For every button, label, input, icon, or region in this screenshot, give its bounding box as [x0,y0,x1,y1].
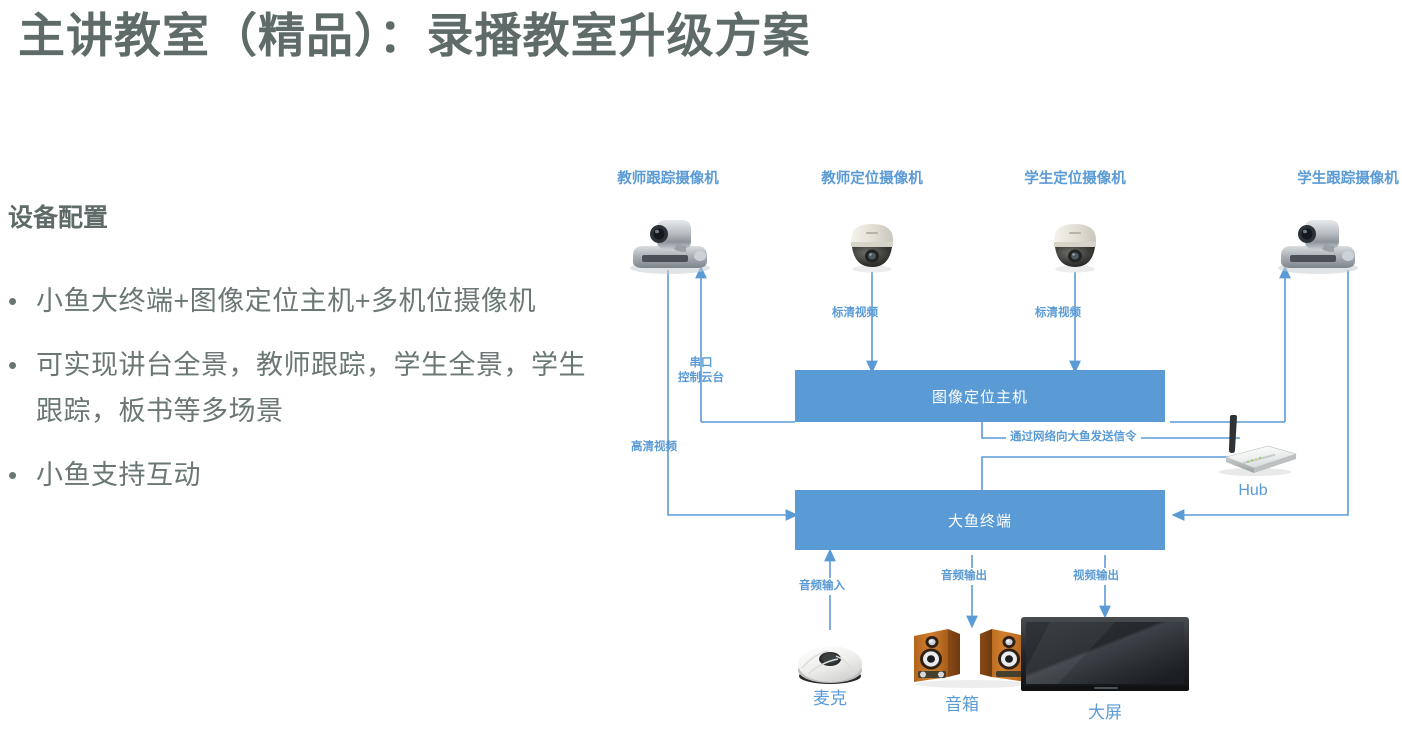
edge-label-network-signal: 通过网络向大鱼发送信令 [1006,430,1141,445]
edge-label-serial-control: 串口 控制云台 [666,356,736,386]
edge-label-serial-control-line2: 控制云台 [678,372,724,384]
display-label: 大屏 [1045,698,1165,723]
hub-icon [1208,410,1298,485]
image-locating-host-box[interactable]: 图像定位主机 [795,370,1165,422]
bullet-list: • 小鱼大终端+图像定位主机+多机位摄像机 • 可实现讲台全景，教师跟踪，学生全… [8,278,586,516]
hub-label: Hub [1208,482,1298,500]
camera-label-student-tracking: 学生跟踪摄像机 [1293,170,1402,189]
list-item-label: 可实现讲台全景，教师跟踪，学生全景，学生跟踪，板书等多场景 [36,342,586,434]
section-heading: 设备配置 [8,198,108,234]
list-item-label: 小鱼大终端+图像定位主机+多机位摄像机 [36,278,536,324]
speakers-icon [908,622,1036,693]
dayu-terminal-label: 大鱼终端 [948,510,1012,531]
bullet-marker-icon: • [8,342,36,388]
student-locating-camera-icon [1046,218,1104,279]
bullet-marker-icon: • [8,452,36,498]
edge-label-audio-in: 音频输入 [796,578,848,595]
camera-label-teacher-locating: 教师定位摄像机 [817,170,927,189]
student-tracking-camera-icon [1273,218,1363,279]
edge-label-video-out: 视频输出 [1070,568,1122,585]
microphone-icon [790,628,870,691]
camera-label-student-locating: 学生定位摄像机 [1020,170,1130,189]
page-title: 主讲教室（精品）：录播教室升级方案 [18,8,1098,63]
edge-label-audio-out: 音频输出 [938,568,990,585]
edge-label-sd-video-right: 标清视频 [1035,306,1081,321]
speakers-label: 音箱 [902,690,1022,715]
dayu-terminal-box[interactable]: 大鱼终端 [795,490,1165,550]
camera-label-teacher-tracking: 教师跟踪摄像机 [613,170,723,189]
teacher-tracking-camera-icon [625,218,715,279]
system-diagram: 教师跟踪摄像机 教师定位摄像机 学生定位摄像机 学生跟踪摄像机 [600,160,1402,740]
list-item: • 小鱼支持互动 [8,452,586,498]
edge-label-sd-video-left: 标清视频 [832,306,878,321]
microphone-label: 麦克 [770,684,890,709]
list-item: • 可实现讲台全景，教师跟踪，学生全景，学生跟踪，板书等多场景 [8,342,586,434]
edge-label-serial-control-line1: 串口 [690,357,713,369]
list-item-label: 小鱼支持互动 [36,452,201,498]
bullet-marker-icon: • [8,278,36,324]
display-icon [1020,616,1190,699]
edge-label-hd-video: 高清视频 [631,440,677,455]
list-item: • 小鱼大终端+图像定位主机+多机位摄像机 [8,278,586,324]
teacher-locating-camera-icon [843,218,901,279]
image-locating-host-label: 图像定位主机 [932,386,1028,407]
